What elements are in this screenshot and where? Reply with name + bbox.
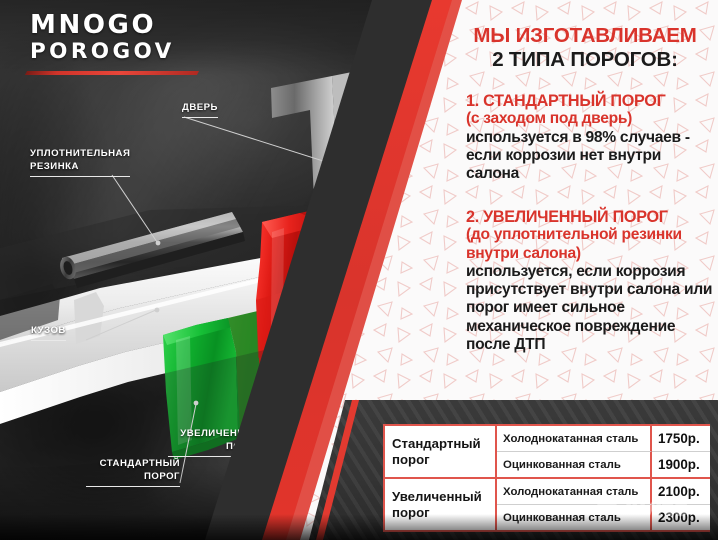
block2-subtitle: (до уплотнительной резинки внутри салона…	[466, 226, 716, 262]
callout-body-label: КУЗОВ	[31, 325, 66, 341]
sill-type-block-1: 1. СТАНДАРТНЫЙ ПОРОГ (с заходом под двер…	[466, 92, 716, 183]
callout-body: КУЗОВ	[31, 325, 66, 341]
headline-line2: 2 ТИПА ПОРОГОВ:	[456, 48, 714, 72]
callout-seal: УПЛОТНИТЕЛЬНАЯ РЕЗИНКА	[30, 148, 130, 177]
price-table-row2-price: 1900р.	[652, 452, 710, 479]
sill-type-block-2: 2. УВЕЛИЧЕННЫЙ ПОРОГ (до уплотнительной …	[466, 208, 716, 354]
headline-line1: МЫ ИЗГОТАВЛИВАЕМ	[456, 24, 714, 48]
price-table-row1-price: 1750р.	[652, 426, 710, 452]
block1-body: используется в 98% случаев - если корроз…	[466, 129, 716, 184]
callout-seal-label-line2: РЕЗИНКА	[30, 161, 130, 177]
block2-title: 2. УВЕЛИЧЕННЫЙ ПОРОГ	[466, 208, 716, 226]
callout-seal-label-line1: УПЛОТНИТЕЛЬНАЯ	[30, 148, 130, 159]
callout-standard-sill: СТАНДАРТНЫЙ ПОРОГ	[86, 458, 180, 487]
callout-door-label: ДВЕРЬ	[182, 102, 218, 118]
bottom-shadow	[0, 514, 718, 540]
callout-standard-line1: СТАНДАРТНЫЙ	[100, 458, 180, 469]
block2-body: используется, если коррозия присутствует…	[466, 263, 716, 354]
price-table-row1-material: Холоднокатанная сталь	[497, 426, 652, 452]
poster-headline: МЫ ИЗГОТАВЛИВАЕМ 2 ТИПА ПОРОГОВ:	[456, 24, 714, 72]
brand-logo-underline	[25, 71, 199, 75]
callout-standard-line2: ПОРОГ	[86, 471, 180, 487]
brand-logo[interactable]: MNOGO POROGOV	[30, 12, 210, 63]
brand-logo-line1: MNOGO	[30, 12, 210, 38]
poster-canvas: ДВЕРЬ УПЛОТНИТЕЛЬНАЯ РЕЗИНКА КУЗОВ СТАНД…	[0, 0, 718, 540]
block1-title: 1. СТАНДАРТНЫЙ ПОРОГ	[466, 92, 716, 110]
price-table-group1-name: Стандартный порог	[385, 426, 497, 479]
brand-logo-line2: POROGOV	[30, 41, 210, 63]
block1-subtitle: (с заходом под дверь)	[466, 110, 716, 128]
callout-door: ДВЕРЬ	[182, 102, 218, 118]
price-table-row2-material: Оцинкованная сталь	[497, 452, 652, 479]
